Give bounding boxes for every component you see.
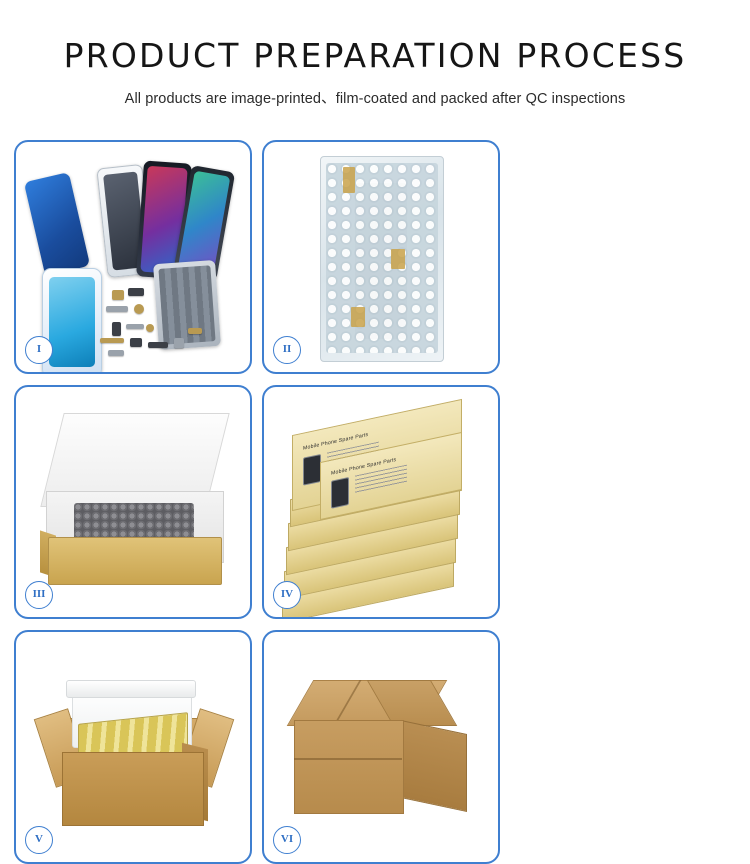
step-number-badge-4: IV xyxy=(273,581,301,609)
process-step-4: Mobile Phone Spare Parts Mobile Phone Sp… xyxy=(262,385,500,619)
process-step-5: V xyxy=(14,630,252,864)
foam-cooler-lid xyxy=(66,680,196,698)
part-chip xyxy=(112,322,121,336)
part-chip xyxy=(130,338,142,347)
process-step-2: II xyxy=(262,140,500,374)
sealed-shipping-carton-image xyxy=(264,632,498,862)
part-chip xyxy=(188,328,202,334)
process-step-6: VI xyxy=(262,630,500,864)
bubble-wrap-packed-screen-image xyxy=(264,142,498,372)
bubble-bag xyxy=(320,156,444,362)
phone-teal xyxy=(42,268,102,374)
carton-front-panel xyxy=(62,752,204,826)
step-number-badge-5: V xyxy=(25,826,53,854)
step-number-badge-3: III xyxy=(25,581,53,609)
step-number-badge-6: VI xyxy=(273,826,301,854)
carton-side-panel xyxy=(401,720,467,812)
page-subtitle: All products are image-printed、film-coat… xyxy=(0,87,750,108)
carton-seam xyxy=(294,758,402,760)
retail-box-screen-graphic xyxy=(303,454,321,486)
poster-page: PRODUCT PREPARATION PROCESS All products… xyxy=(0,0,750,750)
retail-box-screen-graphic xyxy=(331,477,349,509)
step-number-badge-2: II xyxy=(273,336,301,364)
part-chip xyxy=(126,324,144,329)
part-chip xyxy=(134,304,144,314)
poster-header: PRODUCT PREPARATION PROCESS All products… xyxy=(0,0,750,108)
tape-strip xyxy=(391,249,405,269)
part-chip xyxy=(148,342,168,348)
part-chip xyxy=(100,338,124,343)
phone-parts-assortment-image xyxy=(16,142,250,372)
stacked-printed-retail-boxes-image: Mobile Phone Spare Parts Mobile Phone Sp… xyxy=(264,387,498,617)
process-step-3: III xyxy=(14,385,252,619)
phone-backplate xyxy=(153,260,221,350)
carton-front-panel xyxy=(294,720,404,814)
tape-strip xyxy=(351,307,365,327)
process-grid: I II III xyxy=(14,140,736,864)
open-mailer-box-with-foam-image xyxy=(16,387,250,617)
part-chip xyxy=(174,338,184,348)
part-chip xyxy=(146,324,154,332)
part-chip xyxy=(112,290,124,300)
box-front-panel xyxy=(48,537,222,585)
part-chip xyxy=(108,350,124,356)
phone-blue xyxy=(24,172,90,276)
step-number-badge-1: I xyxy=(25,336,53,364)
page-title: PRODUCT PREPARATION PROCESS xyxy=(0,36,750,75)
part-chip xyxy=(128,288,144,296)
process-step-1: I xyxy=(14,140,252,374)
carton-with-foam-cooler-image xyxy=(16,632,250,862)
part-chip xyxy=(106,306,128,312)
tape-strip xyxy=(343,167,355,193)
